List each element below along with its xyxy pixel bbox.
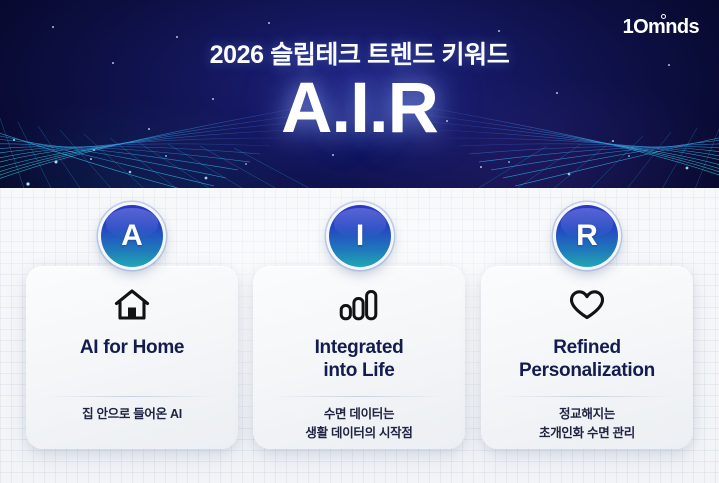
- card-description-integrated-into-life: 수면 데이터는 생활 데이터의 시작점: [253, 405, 465, 444]
- card-title-integrated-into-life: Integrated into Life: [305, 337, 414, 383]
- heart-icon: [568, 288, 606, 322]
- card-title-ai-for-home: AI for Home: [70, 337, 194, 360]
- card-description-ai-for-home: 집 안으로 들어온 AI: [26, 405, 238, 424]
- home-icon: [114, 288, 150, 322]
- card-title-refined-personalization: Refined Personalization: [509, 337, 665, 383]
- card-title-line2: into Life: [315, 360, 404, 383]
- card-description-line2: 초개인화 수면 관리: [481, 424, 693, 443]
- bar-chart-icon: [339, 288, 379, 322]
- infographic-root: 1Omnds 2026 슬립테크 트렌드 키워드 A.I.R A I R AI …: [0, 0, 719, 483]
- card-title-line1: Refined: [519, 337, 655, 360]
- badge-letter-a-text: A: [121, 221, 143, 251]
- card-description-line2: 생활 데이터의 시작점: [253, 424, 465, 443]
- card-refined-personalization[interactable]: Refined Personalization 정교해지는 초개인화 수면 관리: [481, 266, 693, 449]
- card-divider: [501, 396, 673, 397]
- badge-letter-a: A: [101, 205, 163, 267]
- badge-letter-i-text: I: [356, 221, 364, 251]
- badge-letter-i: I: [329, 205, 391, 267]
- card-description-line1: 정교해지는: [481, 405, 693, 424]
- logo-dot-icon: [661, 14, 666, 19]
- hero-headline: A.I.R: [0, 73, 719, 144]
- hero-subtitle: 2026 슬립테크 트렌드 키워드: [0, 35, 719, 71]
- badge-letter-r: R: [556, 205, 618, 267]
- card-ai-for-home[interactable]: AI for Home 집 안으로 들어온 AI: [26, 266, 238, 449]
- card-divider: [46, 396, 218, 397]
- card-title-line1: Integrated: [315, 337, 404, 360]
- card-title-line2: Personalization: [519, 360, 655, 383]
- badge-letter-r-text: R: [576, 221, 598, 251]
- card-description-refined-personalization: 정교해지는 초개인화 수면 관리: [481, 405, 693, 444]
- hero-banner: 1Omnds 2026 슬립테크 트렌드 키워드 A.I.R: [0, 0, 719, 188]
- card-divider: [273, 396, 445, 397]
- card-integrated-into-life[interactable]: Integrated into Life 수면 데이터는 생활 데이터의 시작점: [253, 266, 465, 449]
- card-description-line1: 수면 데이터는: [253, 405, 465, 424]
